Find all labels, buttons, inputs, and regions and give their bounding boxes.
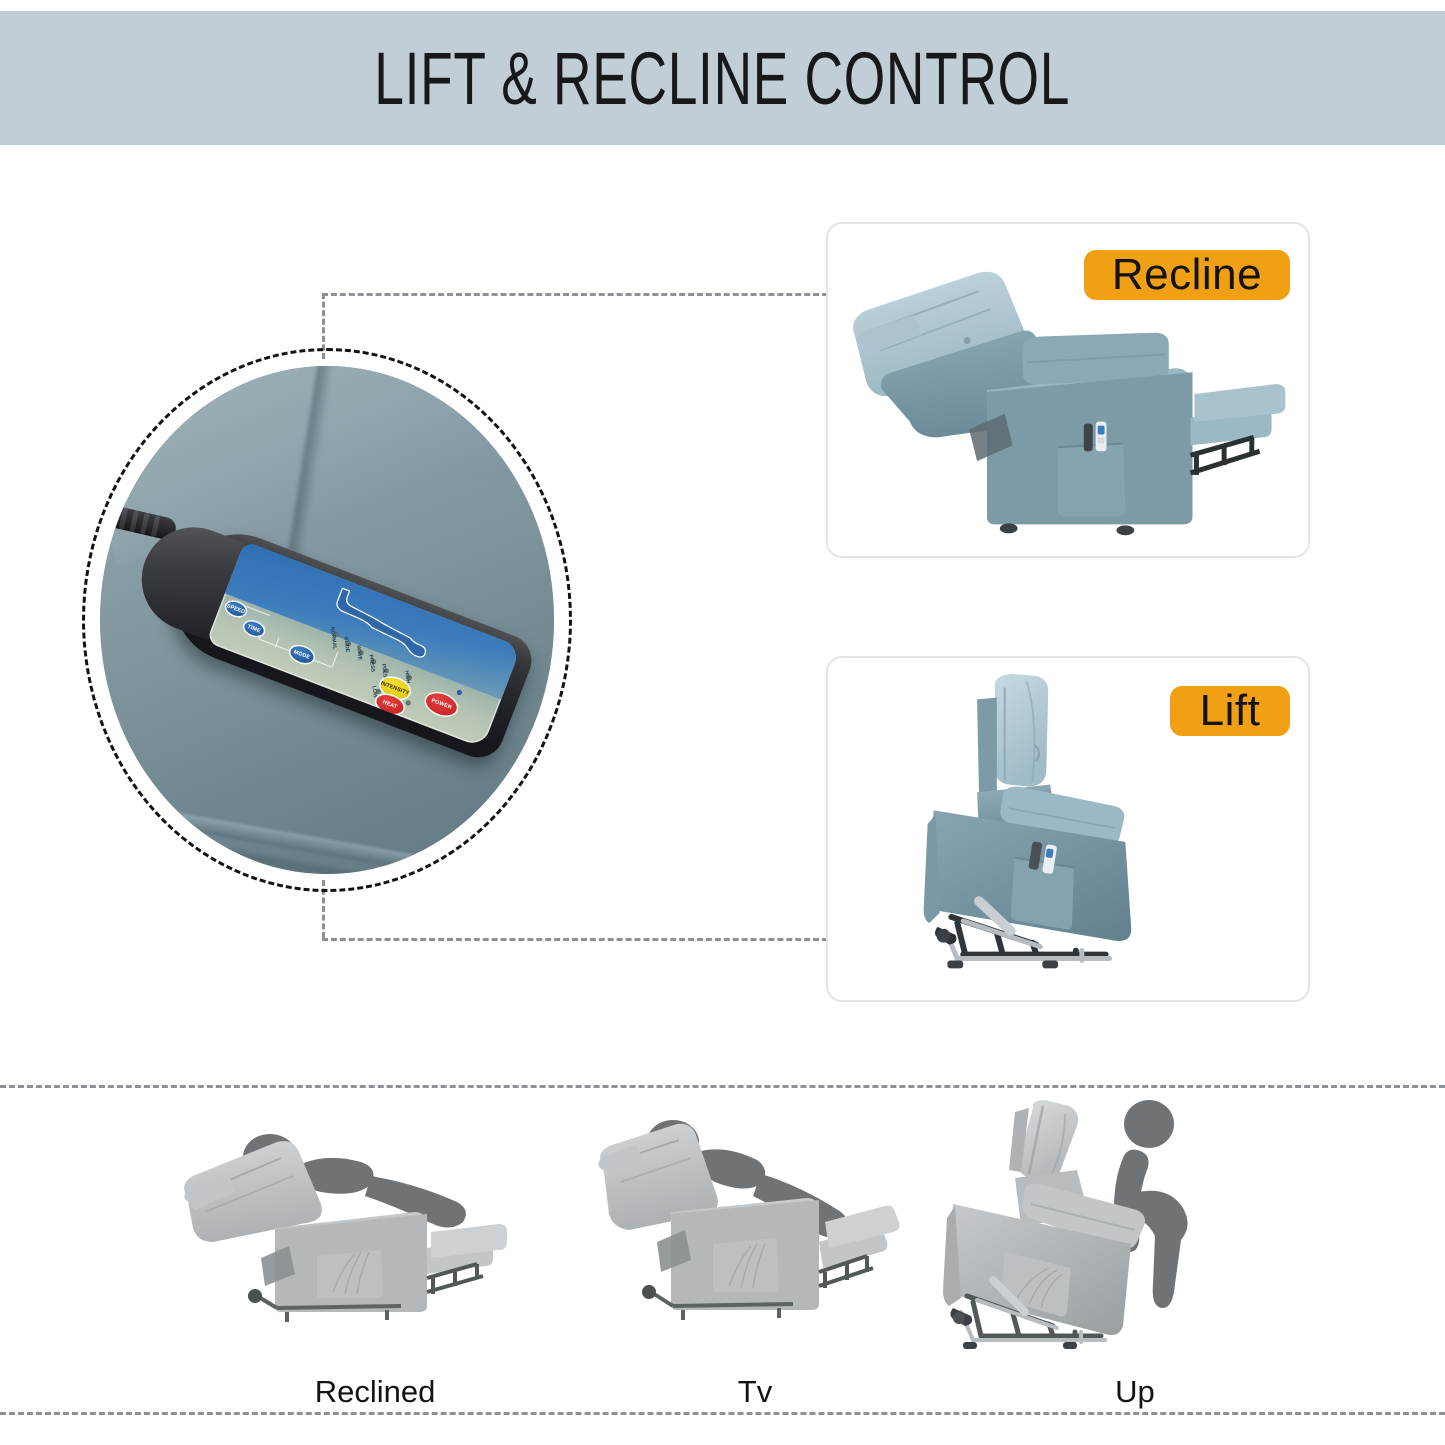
chair-lifted-up-icon xyxy=(925,1100,1345,1350)
badge-recline: Recline xyxy=(1084,250,1290,300)
position-label-reclined: Reclined xyxy=(165,1374,585,1410)
connector-line-to-recline-card xyxy=(322,293,828,296)
page-title: LIFT & RECLINE CONTROL xyxy=(375,36,1071,121)
section-divider-bottom xyxy=(0,1412,1445,1415)
badge-lift: Lift xyxy=(1170,686,1290,736)
position-tv: Tv xyxy=(545,1100,965,1410)
callout-circle-outline xyxy=(82,348,572,892)
position-label-up: Up xyxy=(925,1374,1345,1410)
chair-reclined-flat-icon xyxy=(165,1100,585,1350)
header-band: LIFT & RECLINE CONTROL xyxy=(0,11,1445,145)
connector-line-to-lift-card xyxy=(322,938,828,941)
position-label-tv: Tv xyxy=(545,1374,965,1410)
section-divider-top xyxy=(0,1085,1445,1088)
card-recline[interactable]: Recline xyxy=(826,222,1310,558)
chair-tv-position-icon xyxy=(545,1100,965,1350)
position-up: Up xyxy=(925,1100,1345,1410)
position-reclined: Reclined xyxy=(165,1100,585,1410)
card-lift[interactable]: Lift xyxy=(826,656,1310,1002)
